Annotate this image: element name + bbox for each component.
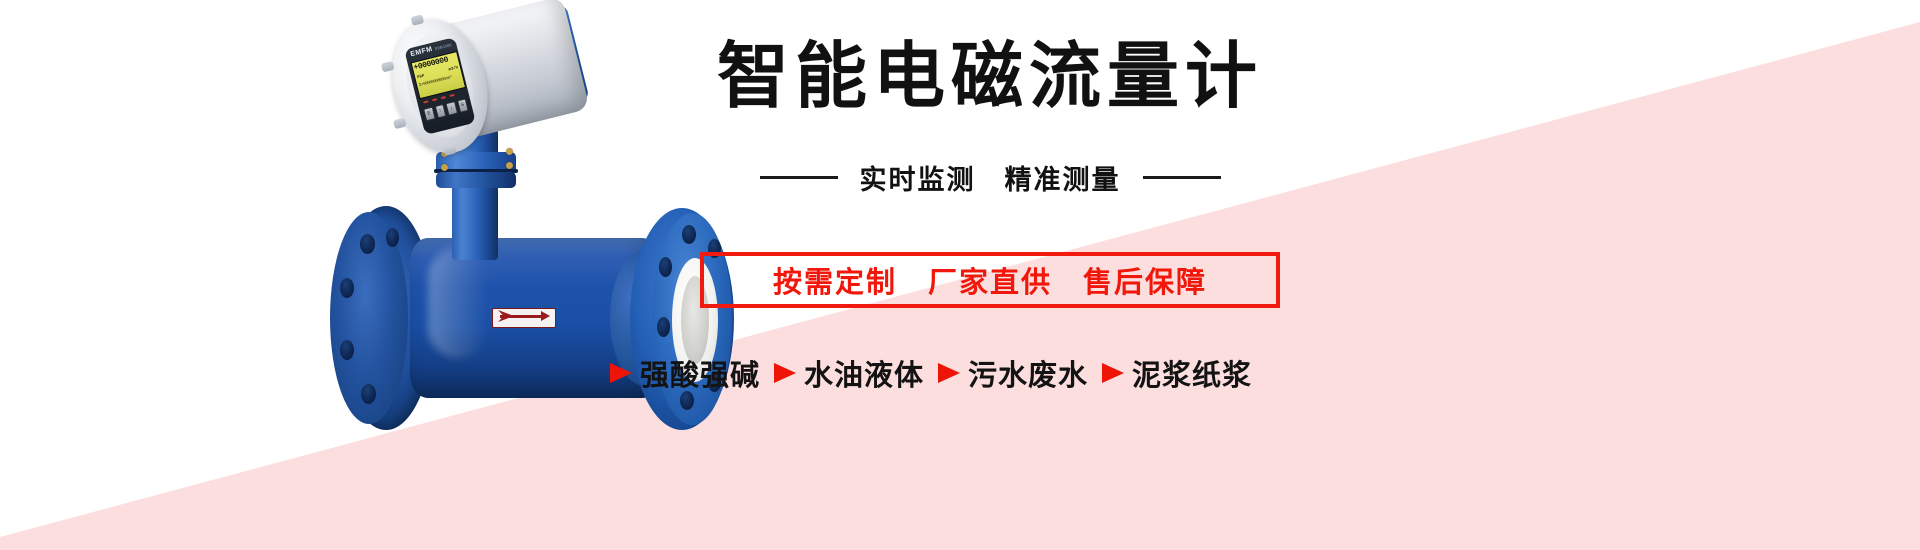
rule-right <box>1143 176 1221 179</box>
triangle-right-icon <box>610 363 632 383</box>
triangle-right-icon <box>1102 363 1124 383</box>
rule-left <box>760 176 838 179</box>
page-title: 智能电磁流量计 <box>640 38 1340 117</box>
feature-label: 泥浆纸浆 <box>1132 352 1252 394</box>
promo-badge: 按需定制 厂家直供 售后保障 <box>700 252 1280 308</box>
feature-label: 污水废水 <box>968 352 1088 394</box>
product-banner: EMFM EEB1000 +0000000 FGP m3/h Σ+0000000… <box>0 0 1920 550</box>
subtitle: 实时监测 精准测量 <box>860 158 1121 197</box>
feature-item: 污水废水 <box>938 352 1088 394</box>
feature-label: 水油液体 <box>804 352 924 394</box>
feature-item: 水油液体 <box>774 352 924 394</box>
triangle-right-icon <box>774 363 796 383</box>
feature-item: 强酸强碱 <box>610 352 760 394</box>
feature-label: 强酸强碱 <box>640 352 760 394</box>
feature-list: 强酸强碱 水油液体 污水废水 泥浆纸浆 <box>610 352 1370 394</box>
subtitle-row: 实时监测 精准测量 <box>640 158 1340 197</box>
banner-content: 智能电磁流量计 实时监测 精准测量 按需定制 厂家直供 售后保障 强酸强碱 水油… <box>0 0 1920 550</box>
feature-item: 泥浆纸浆 <box>1102 352 1252 394</box>
promo-text: 按需定制 厂家直供 售后保障 <box>773 259 1207 301</box>
triangle-right-icon <box>938 363 960 383</box>
